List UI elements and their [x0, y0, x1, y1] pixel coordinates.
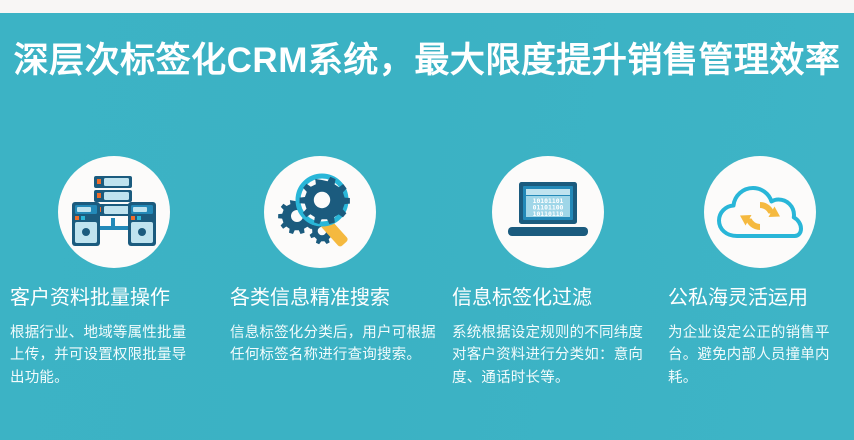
feature-card-public-private-pool: 公私海灵活运用 为企业设定公正的销售平台。避免内部人员撞单内耗。 [662, 156, 854, 389]
feature-heading-4: 公私海灵活运用 [662, 286, 854, 310]
crm-feature-banner: 深层次标签化CRM系统，最大限度提升销售管理效率 [0, 0, 854, 440]
cloud-sync-icon [717, 182, 803, 242]
icon-circle-4 [704, 156, 816, 268]
feature-card-customer-batch: 客户资料批量操作 根据行业、地域等属性批量上传，并可设置权限批量导出功能。 [4, 156, 226, 389]
laptop-binary-icon: 10101101 01101100 10110110 [506, 180, 590, 244]
feature-body-1: 根据行业、地域等属性批量上传，并可设置权限批量导出功能。 [4, 322, 226, 389]
top-light-strip [0, 0, 854, 13]
icon-circle-1 [58, 156, 170, 268]
feature-card-precise-search: 各类信息精准搜索 信息标签化分类后，用户可根据任何标签名称进行查询搜索。 [226, 156, 448, 367]
icon-circle-2 [264, 156, 376, 268]
feature-heading-1: 客户资料批量操作 [4, 286, 226, 310]
server-rack-icon [71, 174, 157, 250]
feature-body-4: 为企业设定公正的销售平台。避免内部人员撞单内耗。 [662, 322, 854, 389]
feature-body-2: 信息标签化分类后，用户可根据任何标签名称进行查询搜索。 [226, 322, 448, 367]
feature-heading-3: 信息标签化过滤 [448, 286, 662, 310]
binary-line-3: 10110110 [533, 210, 564, 218]
icon-circle-3: 10101101 01101100 10110110 [492, 156, 604, 268]
page-title: 深层次标签化CRM系统，最大限度提升销售管理效率 [0, 40, 854, 82]
feature-body-3: 系统根据设定规则的不同纬度对客户资料进行分类如：意向度、通话时长等。 [448, 322, 662, 389]
feature-card-tag-filter: 10101101 01101100 10110110 信息标签化过滤 系统根据设… [448, 156, 662, 389]
feature-heading-2: 各类信息精准搜索 [226, 286, 448, 310]
gear-magnifier-icon [277, 172, 363, 252]
